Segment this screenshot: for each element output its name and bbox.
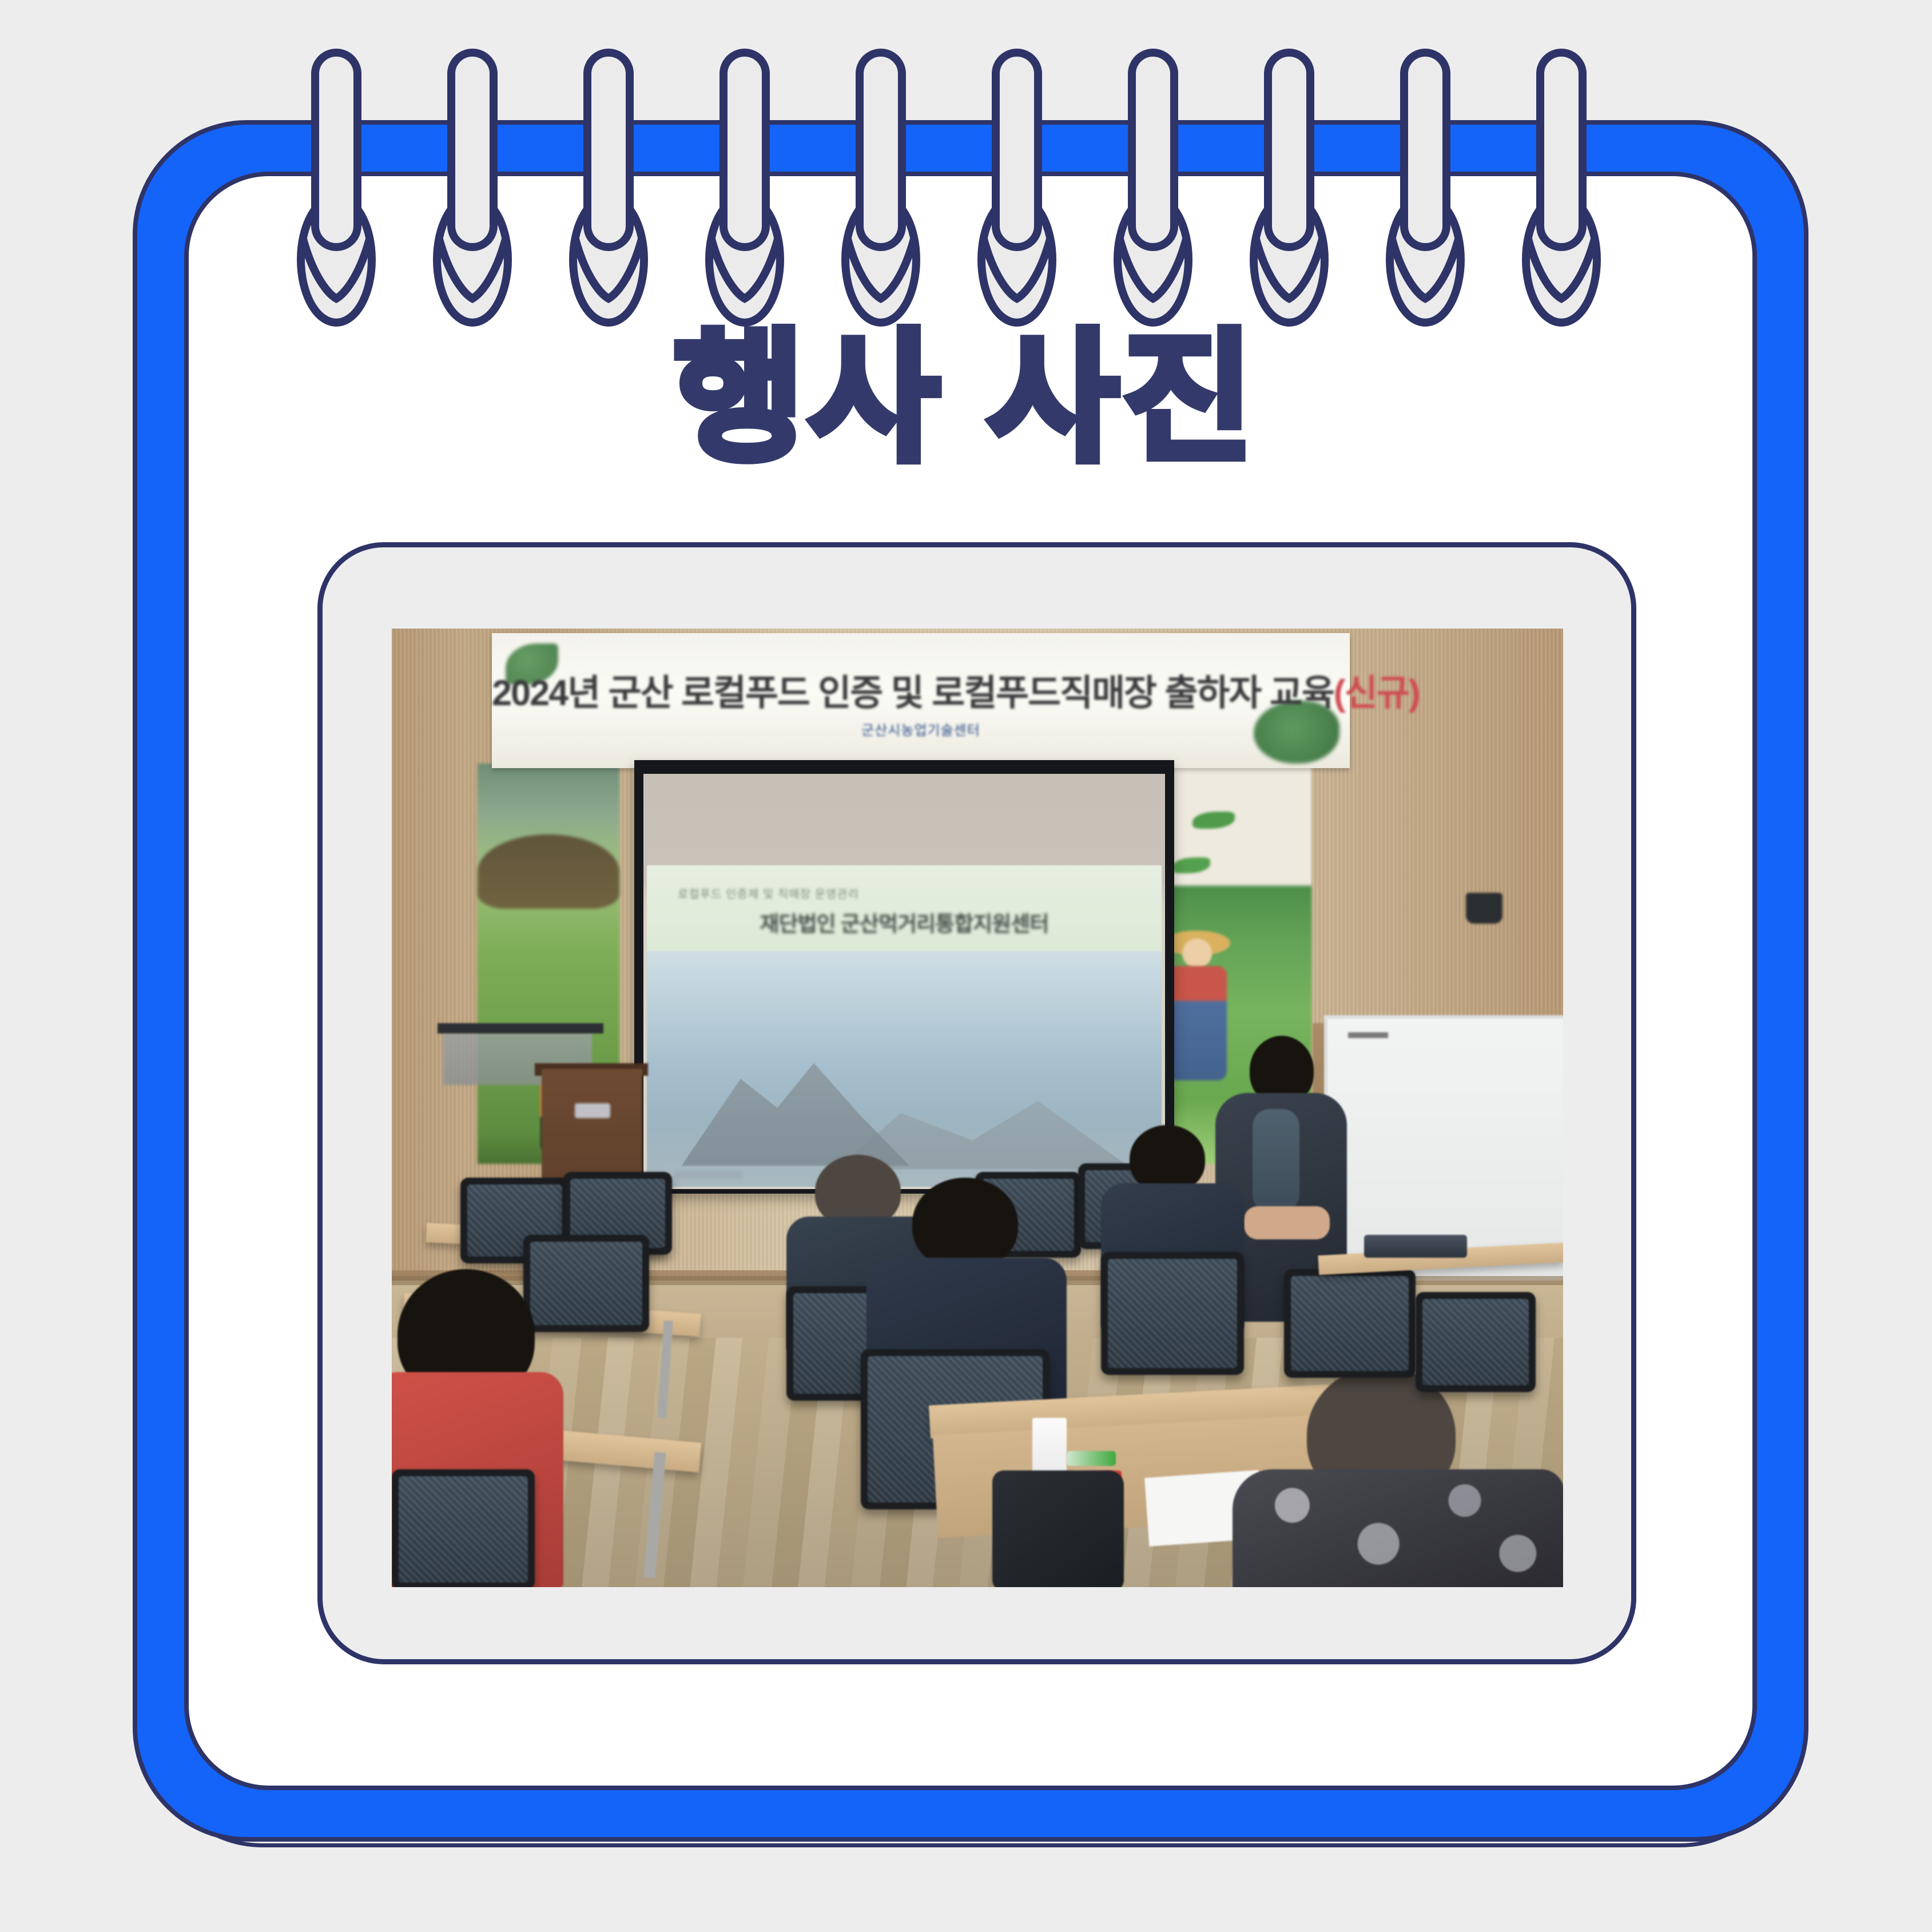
slide-title: 재단법인 군산먹거리통합지원센터 xyxy=(647,907,1162,937)
chair-mid-left xyxy=(523,1235,649,1332)
attendee-right-head xyxy=(1130,1125,1205,1192)
banner-organizer-logo: 군산시농업기술센터 xyxy=(492,719,1350,739)
projected-slide: 로컬푸드 인증제 및 직매장 운영관리 재단법인 군산먹거리통합지원센터 xyxy=(647,865,1162,1187)
podium-badge xyxy=(575,1103,610,1118)
page-title: 행사 사진 xyxy=(0,327,1932,469)
banner-title-highlight: (신규) xyxy=(1334,673,1420,713)
chair-attendee-right xyxy=(1101,1252,1244,1375)
poster-canvas: 행사 사진 2024년 군산 로컬푸드 인증 및 로컬푸드직매장 출하 xyxy=(0,0,1932,1932)
green-marker xyxy=(1067,1451,1116,1466)
chair-far-right-1 xyxy=(1284,1269,1416,1378)
chair-front-left xyxy=(392,1469,535,1587)
presenter-shirt xyxy=(1253,1109,1299,1212)
slide-footer-left xyxy=(674,1171,743,1179)
mural-left-hill xyxy=(478,834,619,909)
ceiling-speaker xyxy=(1466,893,1502,924)
banner-title-main: 2024년 군산 로컬푸드 인증 및 로컬푸드직매장 출하자 교육 xyxy=(492,673,1334,713)
presenter-hands xyxy=(1244,1206,1330,1239)
event-banner: 2024년 군산 로컬푸드 인증 및 로컬푸드직매장 출하자 교육(신규) 군산… xyxy=(492,633,1350,768)
whiteboard-marker-tray xyxy=(1348,1032,1388,1038)
banner-title: 2024년 군산 로컬푸드 인증 및 로컬푸드직매장 출하자 교육(신규) xyxy=(492,664,1350,716)
slide-mountain-front xyxy=(681,1054,910,1166)
laptop xyxy=(1364,1235,1467,1258)
chair-far-right-2 xyxy=(1416,1292,1536,1392)
black-backpack xyxy=(992,1470,1124,1587)
event-photo: 2024년 군산 로컬푸드 인증 및 로컬푸드직매장 출하자 교육(신규) 군산… xyxy=(392,629,1563,1587)
wall-rail xyxy=(438,1023,603,1033)
slide-kicker: 로컬푸드 인증제 및 직매장 운영관리 xyxy=(678,885,859,901)
attendee-center-head xyxy=(912,1178,1018,1269)
mural-right-farmer-body xyxy=(1167,966,1227,1080)
attendee-camo-body xyxy=(1233,1469,1563,1587)
mural-right-farmer-head xyxy=(1182,939,1212,968)
photo-frame: 2024년 군산 로컬푸드 인증 및 로컬푸드직매장 출하자 교육(신규) 군산… xyxy=(317,542,1636,1664)
